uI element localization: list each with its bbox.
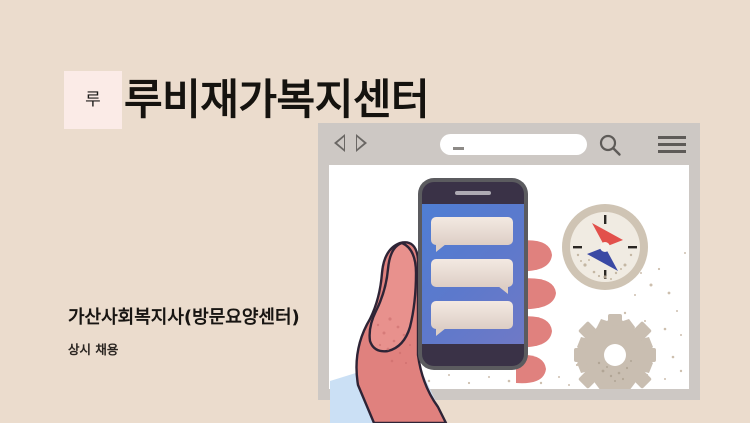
brand-logo-badge: 루 xyxy=(64,71,122,129)
job-recruitment-status: 상시 채용 xyxy=(68,341,118,359)
brand-logo-glyph: 루 xyxy=(85,92,101,109)
forward-arrow-icon[interactable] xyxy=(356,134,367,152)
browser-window xyxy=(318,123,700,400)
search-input[interactable] xyxy=(440,134,587,155)
hamburger-bar-3 xyxy=(658,150,686,153)
job-position-title: 가산사회복지사(방문요양센터) xyxy=(68,306,300,330)
browser-nav-controls xyxy=(334,134,367,152)
hamburger-bar-2 xyxy=(658,143,686,146)
browser-viewport xyxy=(329,165,689,389)
hamburger-bar-1 xyxy=(658,136,686,139)
browser-toolbar xyxy=(318,123,700,165)
text-caret xyxy=(453,147,464,150)
poster-canvas: 루 루비재가복지센터 가산사회복지사(방문요양센터) 상시 채용 xyxy=(0,0,750,423)
back-arrow-icon[interactable] xyxy=(334,134,345,152)
gear-icon xyxy=(573,313,657,389)
hamburger-menu-icon[interactable] xyxy=(658,136,686,153)
compass-icon xyxy=(561,203,649,291)
search-icon[interactable] xyxy=(598,133,622,157)
